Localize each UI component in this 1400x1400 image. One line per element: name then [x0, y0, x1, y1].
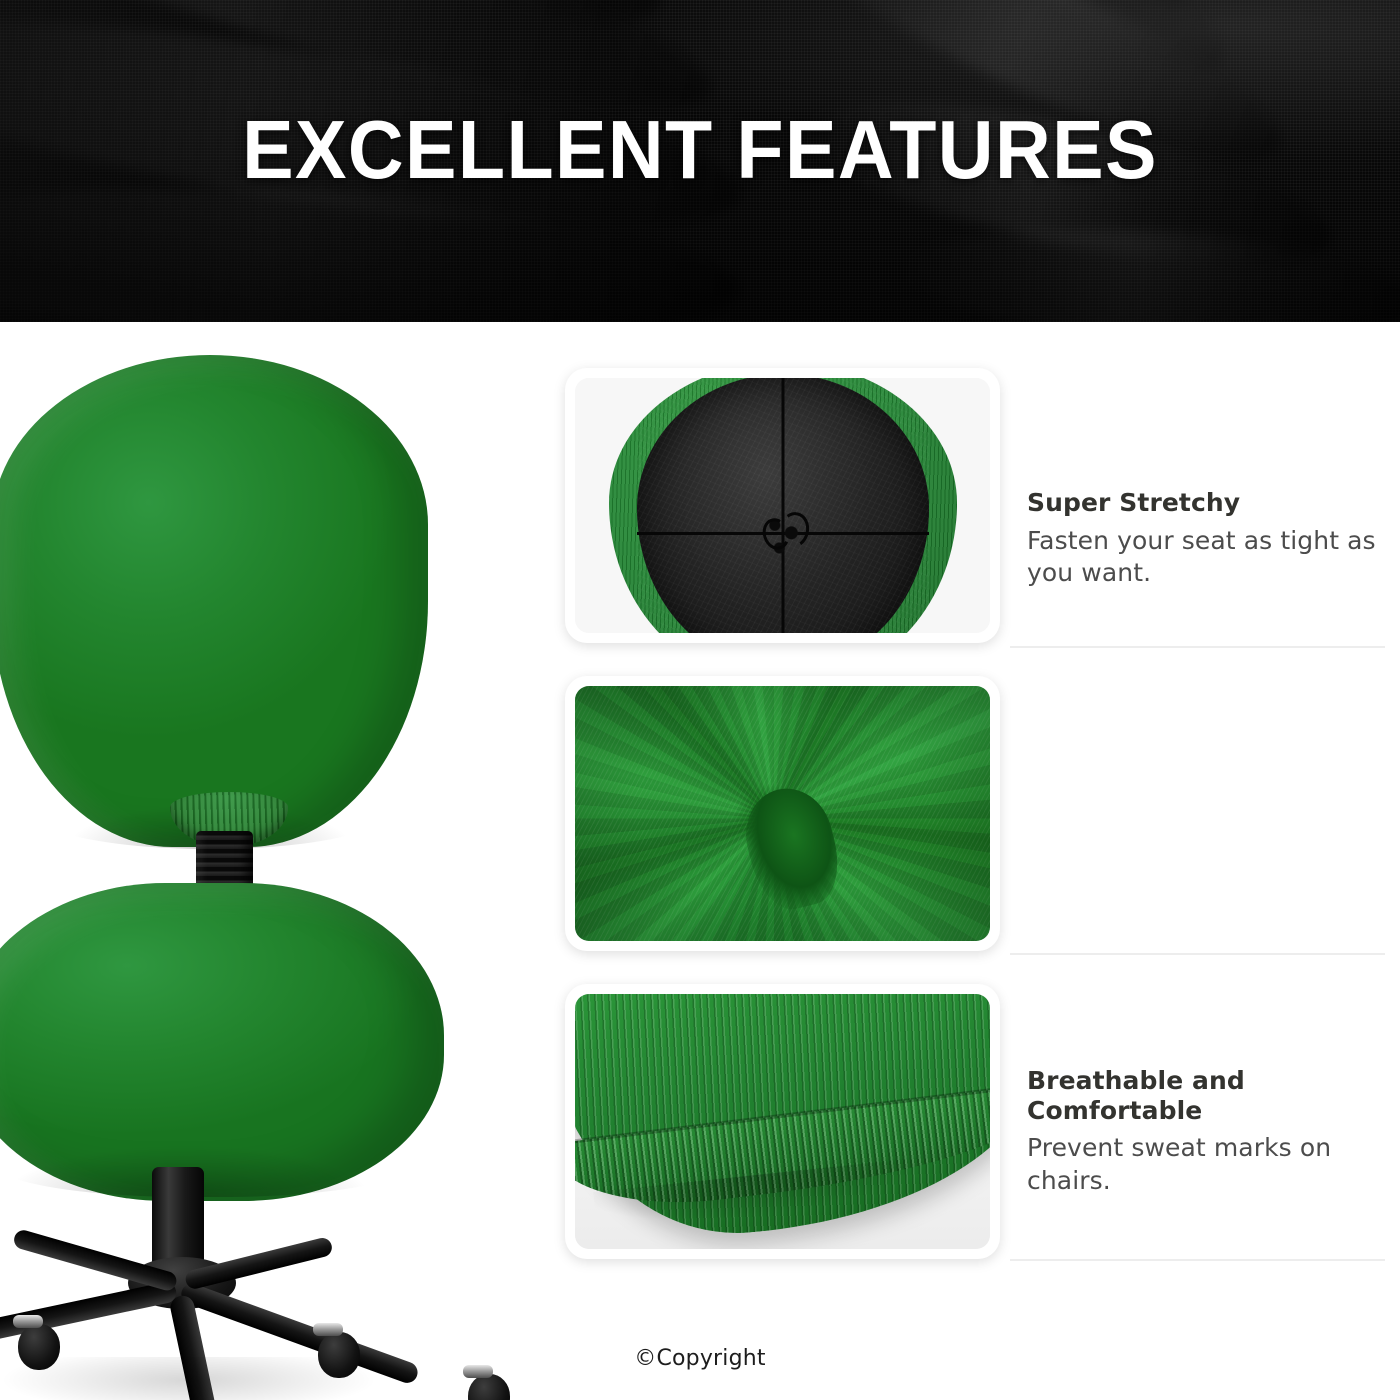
chair-backrest-cover [0, 355, 428, 847]
page-title: EXCELLENT FEATURES [49, 108, 1351, 191]
feature-image-panel [565, 984, 1000, 1259]
vertical-seam [781, 378, 784, 633]
section-divider [1010, 1259, 1385, 1261]
feature-text-block: Super Stretchy Fasten your seat as tight… [1027, 488, 1387, 590]
infographic-page: EXCELLENT FEATURES [0, 0, 1400, 1400]
feature-title: Super Stretchy [1027, 488, 1387, 518]
feature-image-super-stretchy [575, 378, 990, 633]
panel-vignette [575, 686, 990, 941]
chair-seat-cover [0, 883, 444, 1201]
feature-row-super-stretchy: Super Stretchy Fasten your seat as tight… [565, 368, 1390, 646]
feature-image-breathable [575, 686, 990, 941]
feature-image-fine-details [575, 994, 990, 1249]
feature-description: Fasten your seat as tight as you want. [1027, 525, 1387, 590]
header-banner: EXCELLENT FEATURES [0, 0, 1400, 322]
section-divider [1010, 953, 1385, 955]
drawstring-knot [761, 508, 807, 562]
feature-image-panel [565, 368, 1000, 643]
section-divider [1010, 646, 1385, 648]
feature-image-panel [565, 676, 1000, 951]
feature-row-fine-details: Fine Details Sewing nice and meticulous. [565, 984, 1390, 1262]
copyright-footer: ©Copyright [0, 1346, 1400, 1371]
feature-row-breathable-comfortable: Breathable and Comfortable Prevent sweat… [565, 676, 1390, 954]
chair-product-image [0, 322, 545, 1400]
